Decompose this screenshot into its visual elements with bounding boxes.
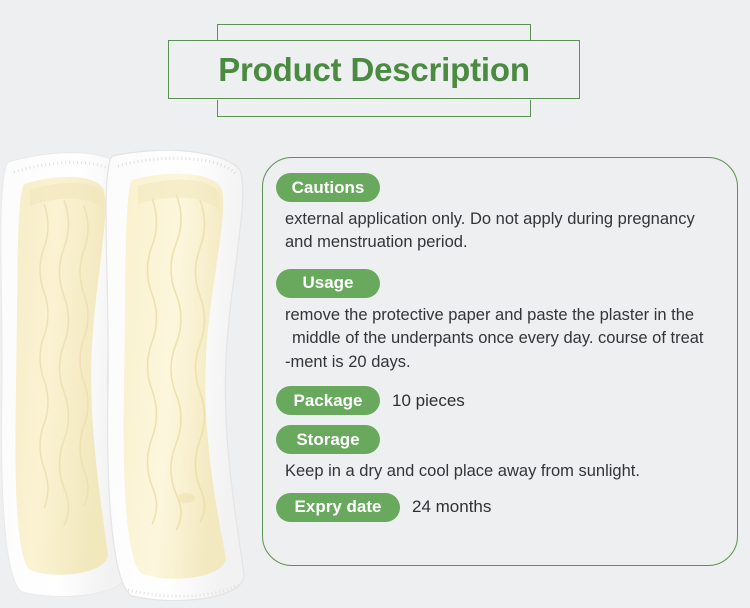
spacer: [276, 484, 736, 493]
info-body-usage: remove the protective paper and paste th…: [285, 304, 733, 374]
product-description-card: Cautions external application only. Do n…: [262, 157, 738, 566]
page-header: Product Description: [0, 0, 750, 140]
label-pill-cautions: Cautions: [276, 173, 380, 202]
info-body-line: and menstruation period.: [285, 231, 733, 254]
info-body-line: -ment is 20 days.: [285, 351, 733, 374]
spacer: [276, 255, 736, 269]
page-title-frame: Product Description: [168, 40, 580, 99]
label-pill-package: Package: [276, 386, 380, 415]
sanitary-pad-pair-photo: [0, 150, 252, 608]
page-title: Product Description: [218, 51, 530, 89]
info-body-line: external application only. Do not apply …: [285, 208, 733, 231]
info-row-package: Package 10 pieces: [276, 386, 736, 415]
info-row-cautions: Cautions: [276, 173, 736, 202]
info-value-package: 10 pieces: [392, 391, 465, 411]
info-row-expiry-date: Expry date 24 months: [276, 493, 736, 522]
spacer: [276, 374, 736, 386]
info-body-line: remove the protective paper and paste th…: [285, 304, 733, 327]
info-body-storage: Keep in a dry and cool place away from s…: [285, 460, 733, 483]
info-value-expiry-date: 24 months: [412, 497, 491, 517]
spacer: [276, 415, 736, 425]
info-row-storage: Storage: [276, 425, 736, 454]
header-bracket-bottom: [217, 100, 531, 117]
info-body-line: middle of the underpants once every day.…: [285, 327, 733, 350]
label-pill-storage: Storage: [276, 425, 380, 454]
label-pill-usage: Usage: [276, 269, 380, 298]
info-body-line: Keep in a dry and cool place away from s…: [285, 460, 733, 483]
info-body-cautions: external application only. Do not apply …: [285, 208, 733, 255]
info-row-usage: Usage: [276, 269, 736, 298]
product-info-list: Cautions external application only. Do n…: [276, 173, 736, 522]
label-pill-expiry-date: Expry date: [276, 493, 400, 522]
header-bracket-top: [217, 24, 531, 41]
